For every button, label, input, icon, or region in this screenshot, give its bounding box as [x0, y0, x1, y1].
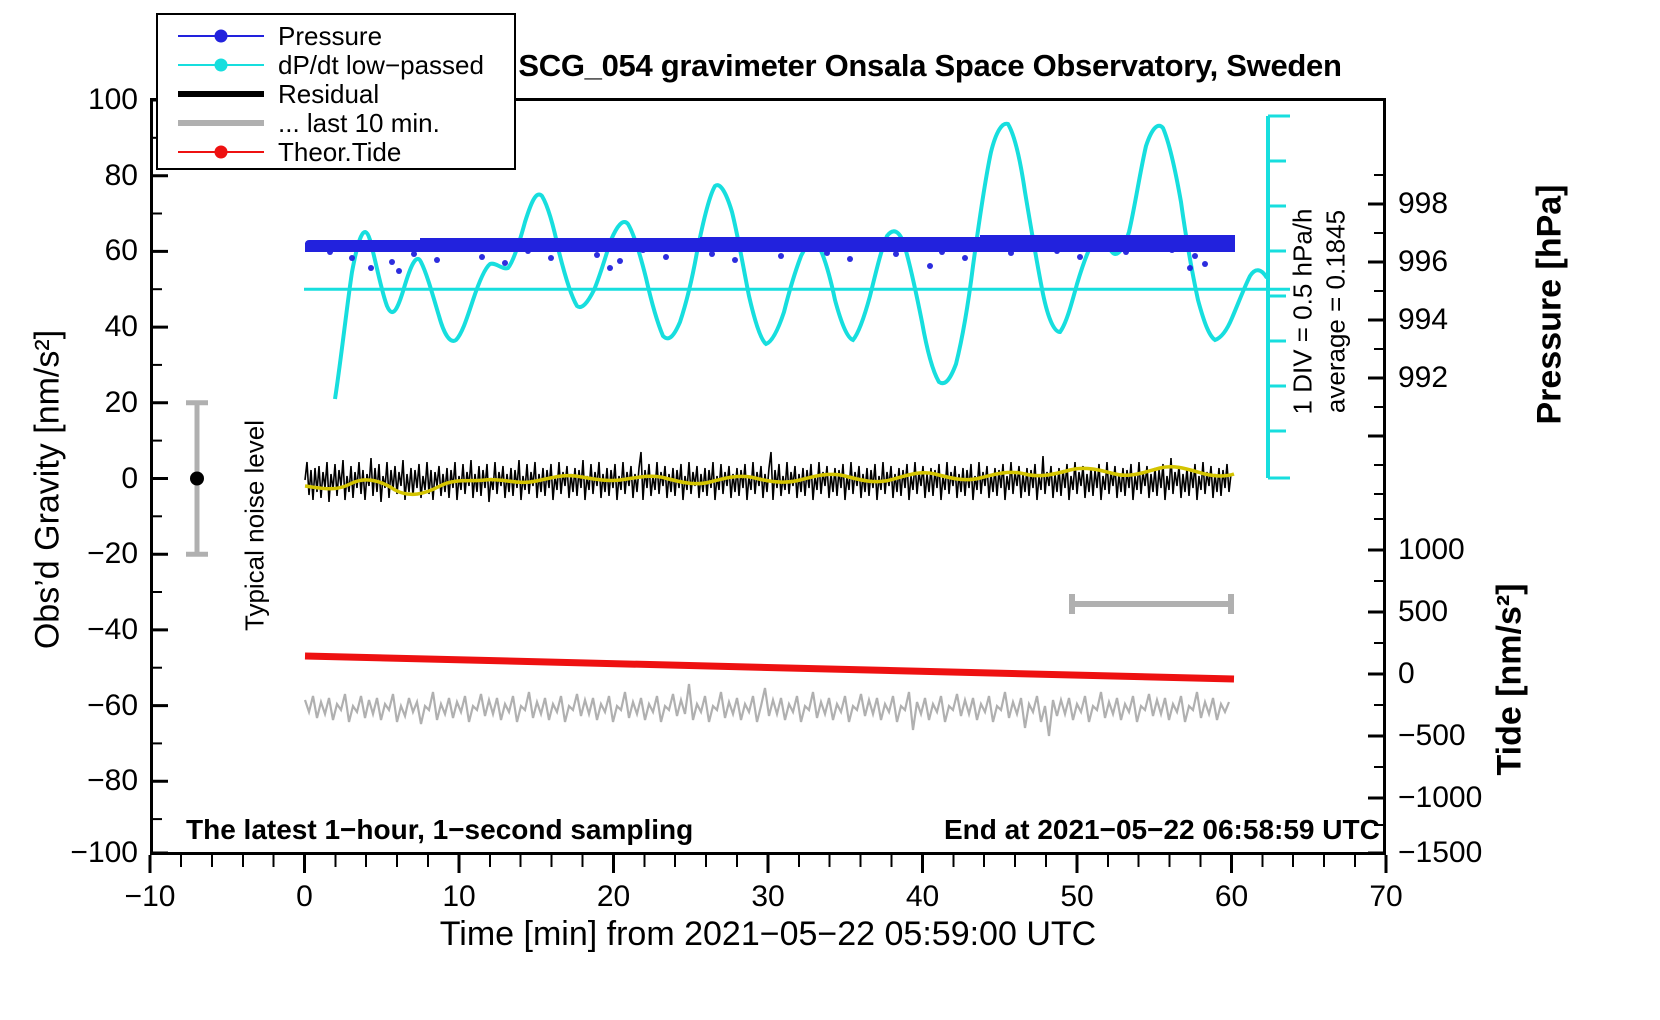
x-axis-ticks: [150, 855, 1386, 873]
legend-swatch-pressure: [178, 26, 264, 46]
y-tick-label: −60: [0, 691, 138, 721]
footer-note-left: The latest 1−hour, 1−second sampling: [186, 814, 693, 846]
tide-tick-label: −1500: [1398, 838, 1482, 868]
y-tick-label: 0: [0, 464, 138, 494]
legend-item-residual[interactable]: Residual: [158, 79, 514, 108]
x-tick-label: 30: [751, 882, 784, 912]
legend-swatch-residual: [178, 84, 264, 104]
legend-label: Pressure: [278, 23, 382, 49]
legend-item-theor-tide[interactable]: Theor.Tide: [158, 137, 514, 166]
legend-label: Residual: [278, 81, 379, 107]
tide-axis-title: Tide [nm/s²]: [1491, 515, 1530, 845]
tide-tick-label: 0: [1398, 659, 1415, 689]
y-tick-label: −100: [0, 838, 138, 868]
legend-item-last10min[interactable]: ... last 10 min.: [158, 108, 514, 137]
x-tick-label: 70: [1369, 882, 1402, 912]
x-axis-title: Time [min] from 2021−05−22 05:59:00 UTC: [150, 915, 1386, 954]
y-tick-label: −20: [0, 539, 138, 569]
legend-swatch-dpdt: [178, 55, 264, 75]
legend-item-dpdt[interactable]: dP/dt low−passed: [158, 50, 514, 79]
legend-label: ... last 10 min.: [278, 110, 440, 136]
x-tick-label: 40: [906, 882, 939, 912]
x-tick-label: 10: [442, 882, 475, 912]
x-tick-label: −10: [125, 882, 176, 912]
legend: Pressure dP/dt low−passed Residual ... l…: [156, 13, 516, 170]
legend-swatch-theor-tide: [178, 142, 264, 162]
page-title: SCG_054 gravimeter Onsala Space Observat…: [430, 48, 1430, 84]
footer-note-right: End at 2021−05−22 06:58:59 UTC: [944, 814, 1380, 846]
y-axis-title: Obs’d Gravity [nm/s²]: [29, 210, 68, 770]
pressure-tick-label: 992: [1398, 363, 1448, 393]
pressure-axis-title: Pressure [hPa]: [1531, 95, 1570, 515]
y-tick-label: 60: [0, 236, 138, 266]
y-tick-label: 20: [0, 388, 138, 418]
dpdt-average-label: average = 0.1845: [1321, 172, 1352, 452]
legend-item-pressure[interactable]: Pressure: [158, 21, 514, 50]
x-tick-label: 60: [1215, 882, 1248, 912]
tide-tick-label: −1000: [1398, 783, 1482, 813]
dpdt-division-label: 1 DIV = 0.5 hPa/h: [1288, 172, 1319, 452]
pressure-tick-label: 994: [1398, 305, 1448, 335]
x-tick-label: 0: [296, 882, 313, 912]
tide-tick-label: 1000: [1398, 535, 1465, 565]
tide-tick-label: −500: [1398, 721, 1466, 751]
x-tick-label: 20: [597, 882, 630, 912]
pressure-tick-label: 996: [1398, 247, 1448, 277]
y-tick-label: −80: [0, 766, 138, 796]
x-tick-label: 50: [1060, 882, 1093, 912]
y-tick-label: 100: [0, 85, 138, 115]
typical-noise-level-label: Typical noise level: [240, 381, 271, 671]
plot-area: [150, 98, 1386, 855]
y-tick-label: 80: [0, 161, 138, 191]
tide-tick-label: 500: [1398, 597, 1448, 627]
legend-label: Theor.Tide: [278, 139, 401, 165]
pressure-tick-label: 998: [1398, 189, 1448, 219]
legend-label: dP/dt low−passed: [278, 52, 484, 78]
y-tick-label: 40: [0, 312, 138, 342]
legend-swatch-last10min: [178, 113, 264, 133]
y-tick-label: −40: [0, 615, 138, 645]
